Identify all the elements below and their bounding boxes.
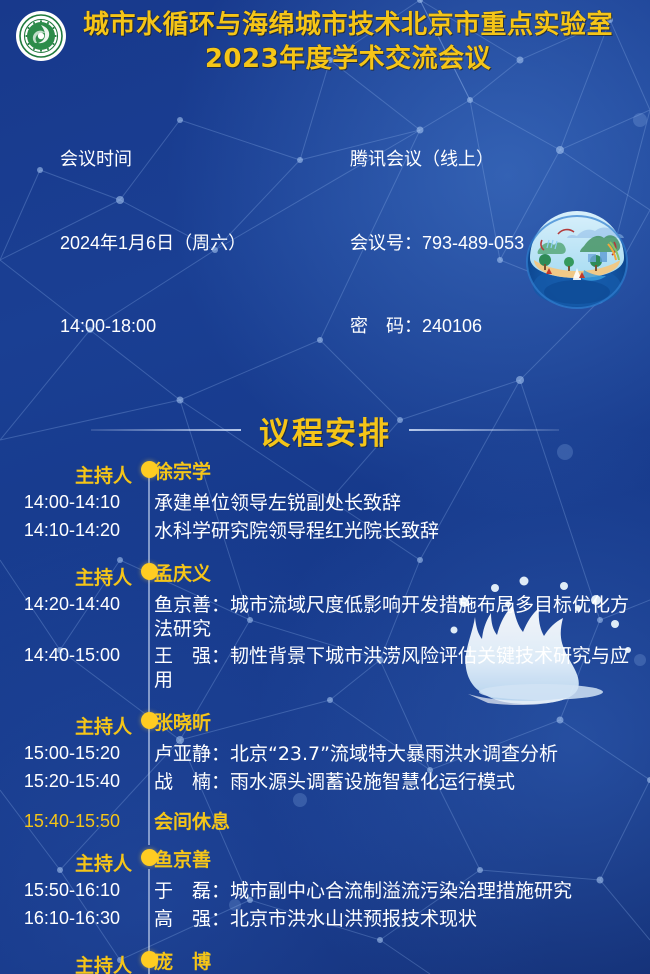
host-name: 张晓昕 (154, 712, 211, 736)
host-label: 主持人 (0, 951, 132, 974)
host-name: 孟庆义 (154, 563, 211, 587)
water-cycle-globe-icon (522, 206, 632, 310)
host-label: 主持人 (0, 849, 132, 876)
title-line-2: 2023年度学术交流会议 (60, 44, 636, 75)
session-header: 主持人 庞 博 (0, 945, 650, 974)
session-header: 主持人 鱼京善 (0, 843, 650, 878)
agenda-heading-bar: 议程安排 (0, 407, 650, 453)
agenda-item-title: 战 楠：雨水源头调蓄设施智慧化运行模式 (154, 771, 515, 795)
session-header: 主持人 徐宗学 (0, 455, 650, 490)
bullet-dot-icon (141, 849, 158, 866)
meeting-date-value: 2024年1月6日（周六） (60, 230, 350, 258)
meeting-time-label: 会议时间 (60, 146, 350, 174)
section-spacer (0, 836, 650, 843)
agenda-item: 15:20-15:40 战 楠：雨水源头调蓄设施智慧化运行模式 (0, 769, 650, 797)
heading-rule-left (91, 429, 241, 431)
conference-agenda-poster: 城市水循环与海绵城市技术北京市重点实验室 2023年度学术交流会议 会议时间 2… (0, 0, 650, 974)
section-spacer (0, 797, 650, 809)
host-name: 庞 博 (154, 951, 211, 974)
meeting-platform-label: 腾讯会议（线上） (350, 146, 524, 174)
agenda-item: 15:00-15:20 卢亚静：北京“23.7”流域特大暴雨洪水调查分析 (0, 741, 650, 769)
session-header: 主持人 孟庆义 (0, 557, 650, 592)
agenda-item-time: 16:10-16:30 (0, 908, 132, 929)
bullet-dot-icon (141, 461, 158, 478)
agenda-item: 15:50-16:10 于 磊：城市副中心合流制溢流污染治理措施研究 (0, 878, 650, 906)
section-spacer (0, 933, 650, 945)
agenda-item-title: 水科学研究院领导程红光院长致辞 (154, 520, 439, 544)
agenda-item-time: 14:40-15:00 (0, 645, 132, 666)
agenda-item-title: 承建单位领导左锐副处长致辞 (154, 492, 401, 516)
host-name: 鱼京善 (154, 849, 211, 873)
agenda-item-title: 王 强：韧性背景下城市洪涝风险评估关键技术研究与应用 (154, 645, 644, 692)
meeting-password-value: 密 码：240106 (350, 313, 524, 341)
agenda-item: 16:10-16:30 高 强：北京市洪水山洪预报技术现状 (0, 906, 650, 934)
agenda-item: 14:40-15:00 王 强：韧性背景下城市洪涝风险评估关键技术研究与应用 (0, 643, 650, 694)
lab-seal-icon (16, 11, 66, 61)
agenda-item: 14:10-14:20 水科学研究院领导程红光院长致辞 (0, 518, 650, 546)
meeting-hours-value: 14:00-18:00 (60, 313, 350, 341)
agenda-item-time: 14:00-14:10 (0, 492, 132, 513)
poster-header: 城市水循环与海绵城市技术北京市重点实验室 2023年度学术交流会议 (0, 0, 650, 74)
agenda-item-title: 高 强：北京市洪水山洪预报技术现状 (154, 908, 477, 932)
agenda-break: 15:40-15:50 会间休息 (0, 809, 650, 837)
agenda-item-title: 鱼京善：城市流域尺度低影响开发措施布局多目标优化方法研究 (154, 594, 644, 641)
session-header: 主持人 张晓昕 (0, 706, 650, 741)
agenda-item-time: 15:50-16:10 (0, 880, 132, 901)
break-label: 会间休息 (154, 811, 230, 835)
section-spacer (0, 694, 650, 706)
agenda-item-time: 14:10-14:20 (0, 520, 132, 541)
agenda-item: 14:00-14:10 承建单位领导左锐副处长致辞 (0, 490, 650, 518)
host-label: 主持人 (0, 563, 132, 590)
poster-title: 城市水循环与海绵城市技术北京市重点实验室 2023年度学术交流会议 (0, 10, 650, 74)
agenda-item-time: 14:20-14:40 (0, 594, 132, 615)
host-label: 主持人 (0, 712, 132, 739)
host-label: 主持人 (0, 461, 132, 488)
meeting-time-block: 会议时间 2024年1月6日（周六） 14:00-18:00 (60, 90, 350, 397)
heading-rule-right (409, 429, 559, 431)
meeting-id-value: 会议号：793-489-053 (350, 230, 524, 258)
agenda-heading-text: 议程安排 (259, 408, 391, 453)
agenda-list: 主持人 徐宗学 14:00-14:10 承建单位领导左锐副处长致辞 14:10-… (0, 455, 650, 974)
meeting-platform-block: 腾讯会议（线上） 会议号：793-489-053 密 码：240106 (350, 90, 524, 397)
agenda-item: 14:20-14:40 鱼京善：城市流域尺度低影响开发措施布局多目标优化方法研究 (0, 592, 650, 643)
break-time: 15:40-15:50 (0, 811, 132, 832)
host-name: 徐宗学 (154, 461, 211, 485)
agenda-item-title: 于 磊：城市副中心合流制溢流污染治理措施研究 (154, 880, 572, 904)
agenda-item-time: 15:20-15:40 (0, 771, 132, 792)
section-spacer (0, 545, 650, 557)
title-line-1: 城市水循环与海绵城市技术北京市重点实验室 (60, 10, 636, 41)
agenda-item-time: 15:00-15:20 (0, 743, 132, 764)
agenda-item-title: 卢亚静：北京“23.7”流域特大暴雨洪水调查分析 (154, 743, 558, 767)
